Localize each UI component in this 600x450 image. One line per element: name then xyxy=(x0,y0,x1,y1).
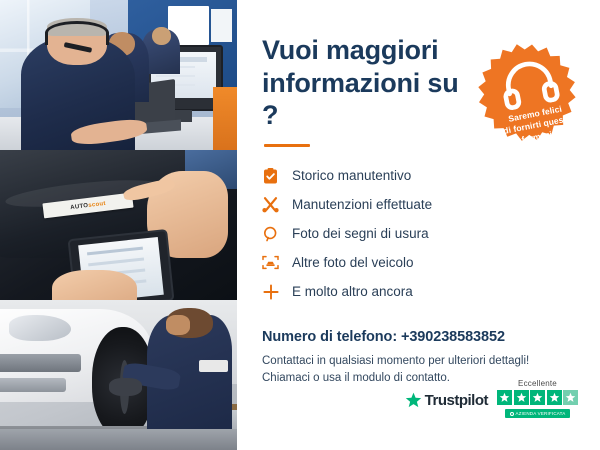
page-title-line-1: Vuoi maggiori xyxy=(262,35,438,65)
vehicle-inspection-photo: AUTOscout xyxy=(0,150,237,300)
feature-item: Foto dei segni di usura xyxy=(262,223,578,245)
car-photo-frame-icon xyxy=(262,254,279,271)
feature-label: E molto altro ancora xyxy=(292,284,413,299)
orange-panel-accent xyxy=(213,87,237,150)
feature-item: Storico manutentivo xyxy=(262,165,578,187)
promo-banner: AUTOscout xyxy=(0,0,600,450)
trustpilot-rating-label: Eccellente xyxy=(518,379,557,388)
clipboard-check-icon xyxy=(262,167,279,184)
uniform-logo-patch xyxy=(199,360,227,372)
car-grille-lower xyxy=(0,378,66,392)
car-grille-upper xyxy=(0,354,81,372)
technician-hand-holding-tablet xyxy=(52,270,137,300)
page-title-line-2: informazioni su ? xyxy=(262,68,459,131)
star-filled xyxy=(547,390,562,405)
star-filled xyxy=(514,390,529,405)
page-title: Vuoi maggiori informazioni su ? xyxy=(262,34,472,132)
call-center-photo xyxy=(0,0,237,150)
feature-item: E molto altro ancora xyxy=(262,281,578,303)
wall-poster-secondary xyxy=(211,9,232,42)
sticker-brand-a: AUTO xyxy=(70,202,89,210)
sticker-brand-b: scout xyxy=(88,200,106,208)
star-filled xyxy=(497,390,512,405)
contact-subtext-line-1: Contattaci in qualsiasi momento per ulte… xyxy=(262,355,529,367)
mechanic-glove xyxy=(109,378,142,396)
feature-item: Manutenzioni effettuate xyxy=(262,194,578,216)
trustpilot-rating-block: Eccellente xyxy=(497,379,578,418)
feature-label: Altre foto del veicolo xyxy=(292,255,414,270)
trustpilot-wordmark: Trustpilot xyxy=(425,392,488,409)
feature-label: Storico manutentivo xyxy=(292,168,411,183)
content-panel: Vuoi maggiori informazioni su ? Saremo f… xyxy=(237,0,600,450)
garage-floor xyxy=(0,429,237,450)
trustpilot-stars xyxy=(497,390,578,405)
seal-content: Saremo felici di fornirti queste informa… xyxy=(466,32,597,163)
verified-check-icon xyxy=(510,412,514,416)
plus-icon xyxy=(262,283,279,300)
trustpilot-star-icon xyxy=(405,392,422,409)
request-info-seal: Saremo felici di fornirti queste informa… xyxy=(476,42,588,154)
verified-company-badge: AZIENDA VERIFICATA xyxy=(505,409,571,418)
phone-number-label: Numero di telefono: +390238583852 xyxy=(262,329,578,345)
mechanic-face xyxy=(166,315,190,335)
operator-headset-icon xyxy=(45,21,109,45)
trustpilot-widget[interactable]: Trustpilot Eccellente xyxy=(405,379,578,418)
title-underline-rule xyxy=(264,144,310,147)
feature-label: Manutenzioni effettuate xyxy=(292,197,432,212)
photo-column: AUTOscout xyxy=(0,0,237,450)
verified-company-label: AZIENDA VERIFICATA xyxy=(516,411,566,416)
tools-cross-icon xyxy=(262,196,279,213)
trustpilot-logo[interactable]: Trustpilot xyxy=(405,392,488,418)
magnifier-icon xyxy=(262,225,279,242)
star-filled xyxy=(530,390,545,405)
feature-list: Storico manutentivo Manutenzioni effettu… xyxy=(262,165,578,303)
feature-item: Altre foto del veicolo xyxy=(262,252,578,274)
background-colleague-two-head xyxy=(152,27,171,45)
star-partial xyxy=(563,390,578,405)
mechanic-service-photo xyxy=(0,300,237,450)
car-headlight xyxy=(9,315,71,341)
feature-label: Foto dei segni di usura xyxy=(292,226,429,241)
